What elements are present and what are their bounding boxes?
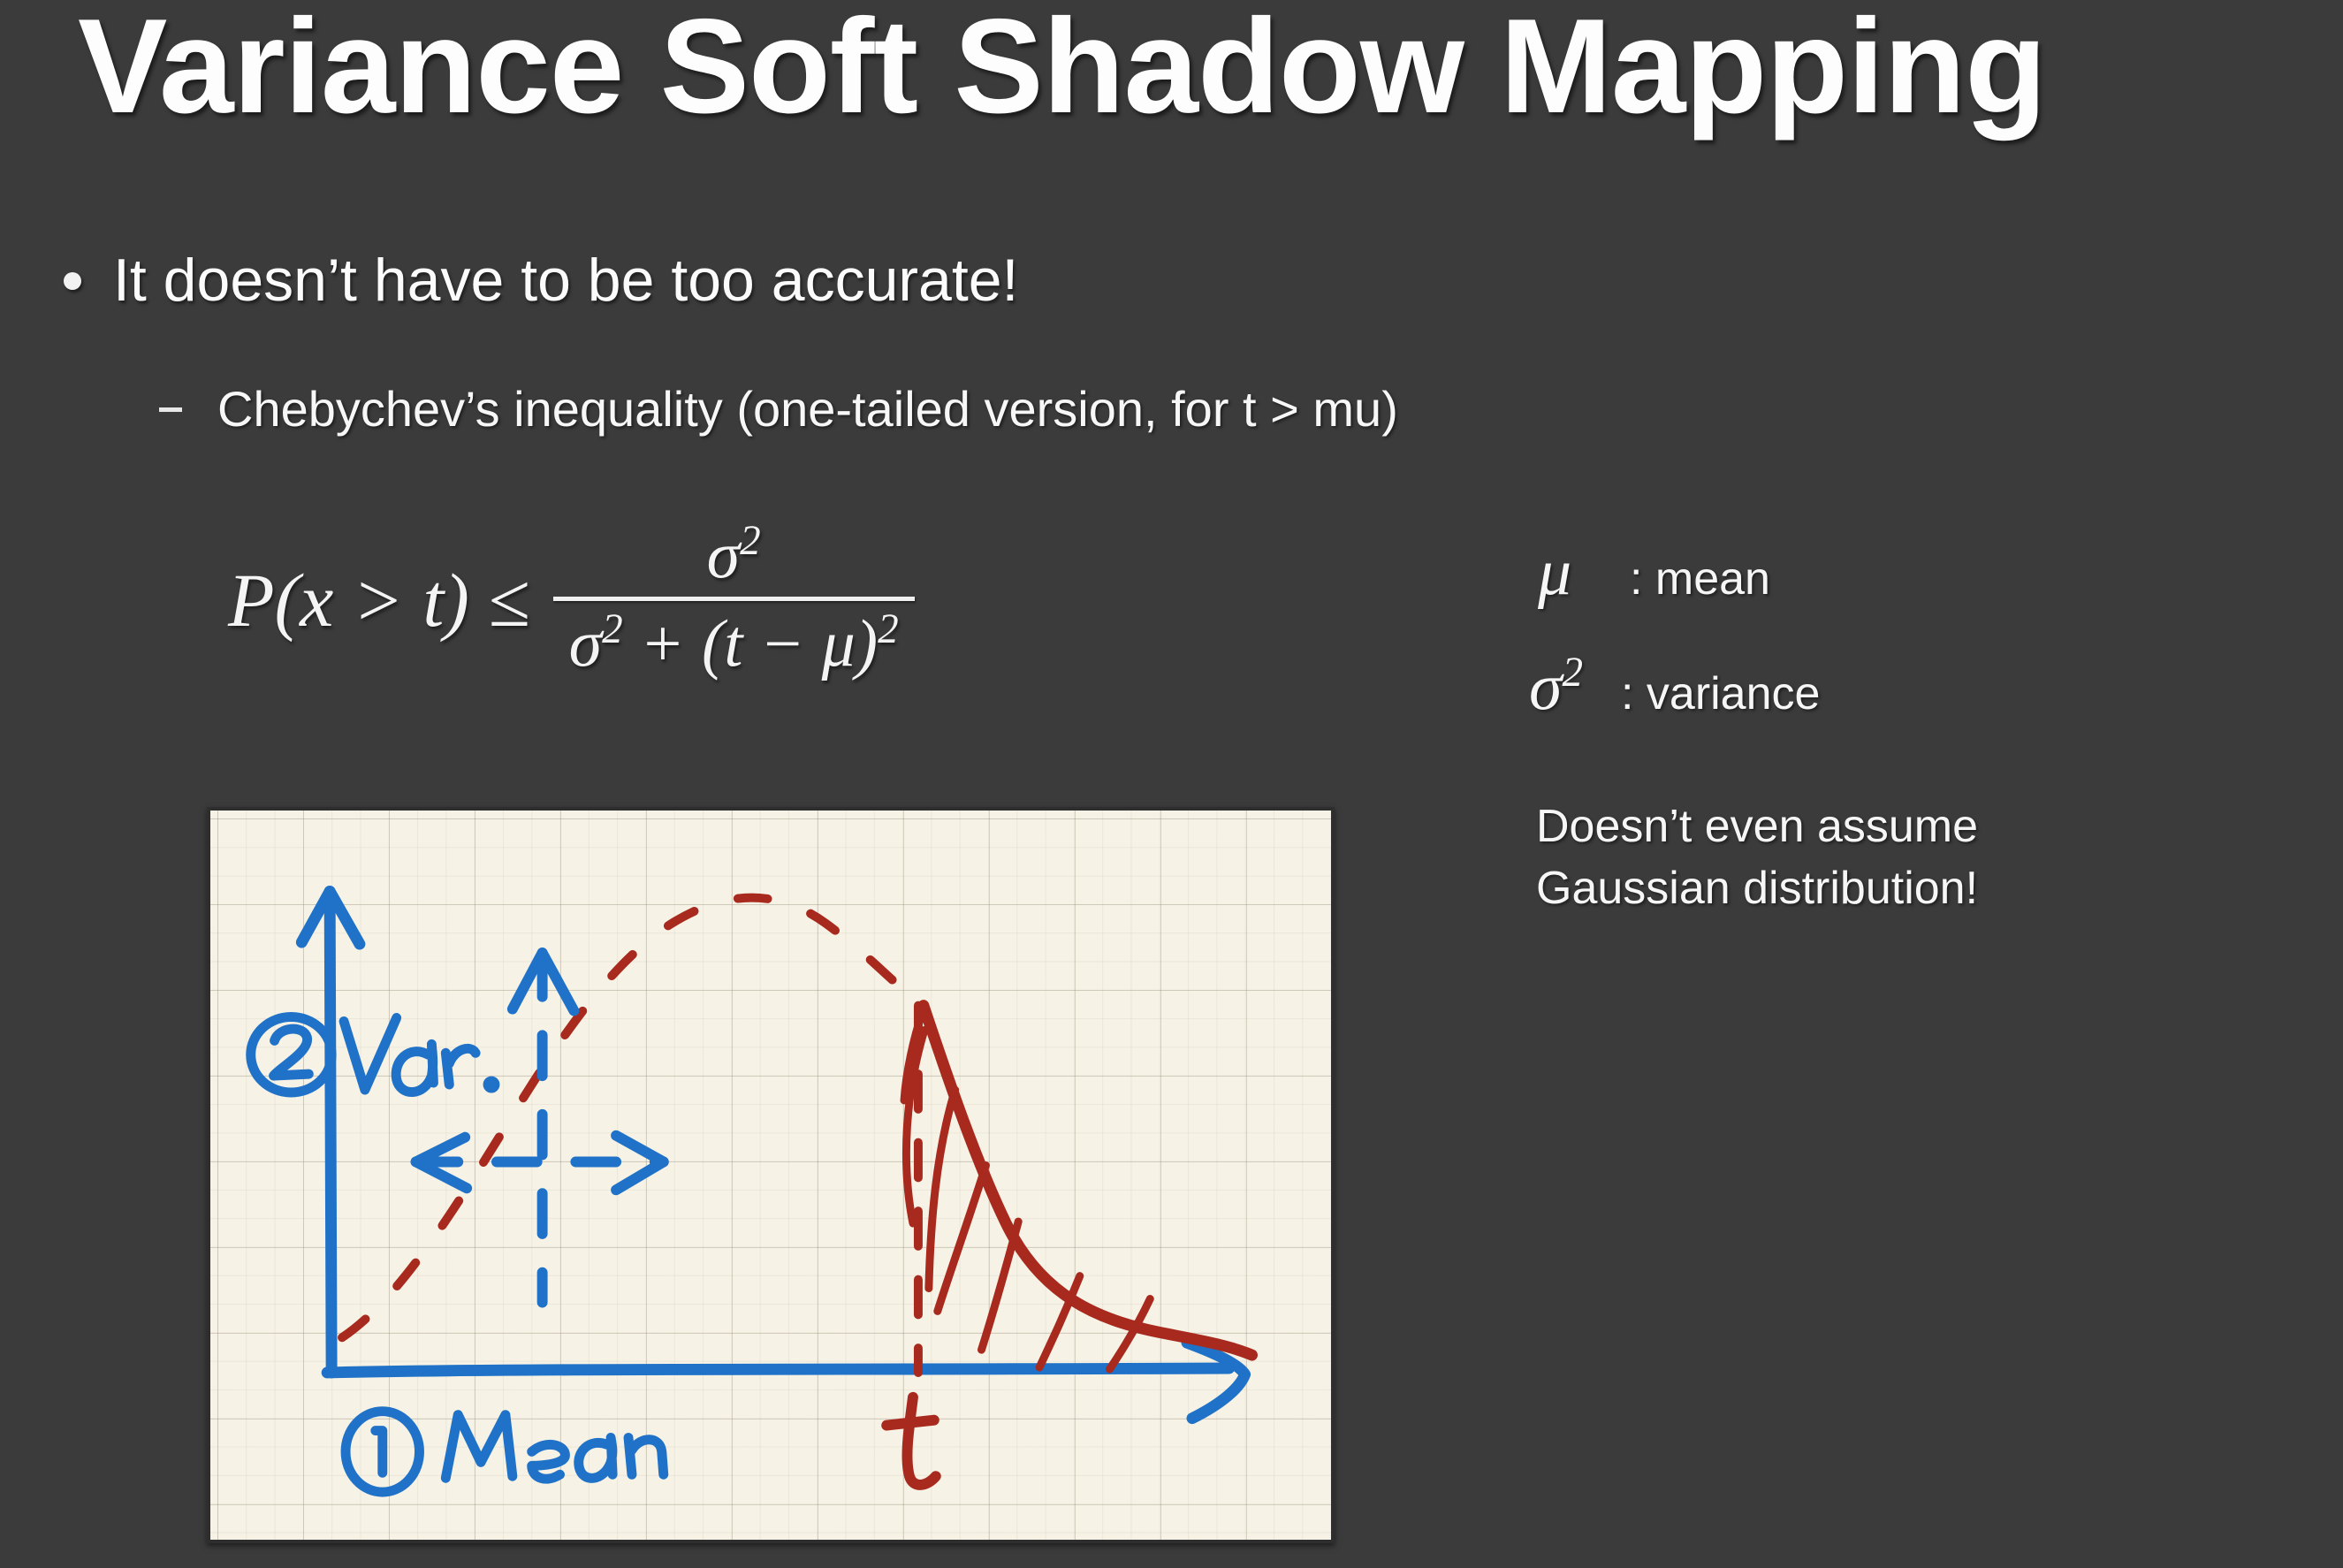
note-text: Doesn’t even assume Gaussian distributio…: [1536, 795, 1978, 919]
sigma-squared-symbol: σ2: [1529, 652, 1621, 720]
dashed-cross-with-arrows: [416, 953, 664, 1302]
legend-variance: σ2 : variance: [1529, 652, 1820, 720]
legend-mean-label: : mean: [1630, 556, 1770, 602]
bullet-item-primary: It doesn’t have to be too accurate!: [64, 246, 1018, 315]
page-title: Variance Soft Shadow Mapping: [78, 0, 2046, 144]
caption-mean: [346, 1412, 664, 1492]
formula-left-hand-side: P(x > t) ≤: [228, 562, 530, 638]
x-axis-arrow: [327, 1343, 1244, 1418]
bullet-primary-text: It doesn’t have to be too accurate!: [113, 246, 1018, 315]
formula-numerator: σ2: [691, 520, 777, 597]
bullet-dot-icon: [64, 272, 81, 290]
formula-denominator: σ2 + (t − μ)2: [553, 601, 915, 680]
bullet-secondary-text: Chebychev’s inequality (one-tailed versi…: [217, 380, 1398, 438]
chebychev-formula: P(x > t) ≤ σ2 σ2 + (t − μ)2: [228, 520, 915, 680]
formula-fraction: σ2 σ2 + (t − μ)2: [553, 520, 915, 680]
dash-marker-icon: [159, 407, 182, 412]
legend-mean: μ : mean: [1538, 537, 1770, 605]
y-axis-arrow: [301, 891, 360, 1373]
bullet-item-secondary: Chebychev’s inequality (one-tailed versi…: [159, 380, 1398, 438]
dashed-bell-curve: [342, 898, 924, 1338]
sketch-drawing: [210, 811, 1331, 1542]
legend-variance-label: : variance: [1621, 671, 1820, 717]
caption-variance: [251, 1017, 495, 1092]
label-t: [886, 1397, 936, 1485]
mu-symbol: μ: [1538, 537, 1630, 605]
handdrawn-sketch-panel: [207, 807, 1335, 1543]
solid-tail-curve: [924, 1006, 1252, 1355]
